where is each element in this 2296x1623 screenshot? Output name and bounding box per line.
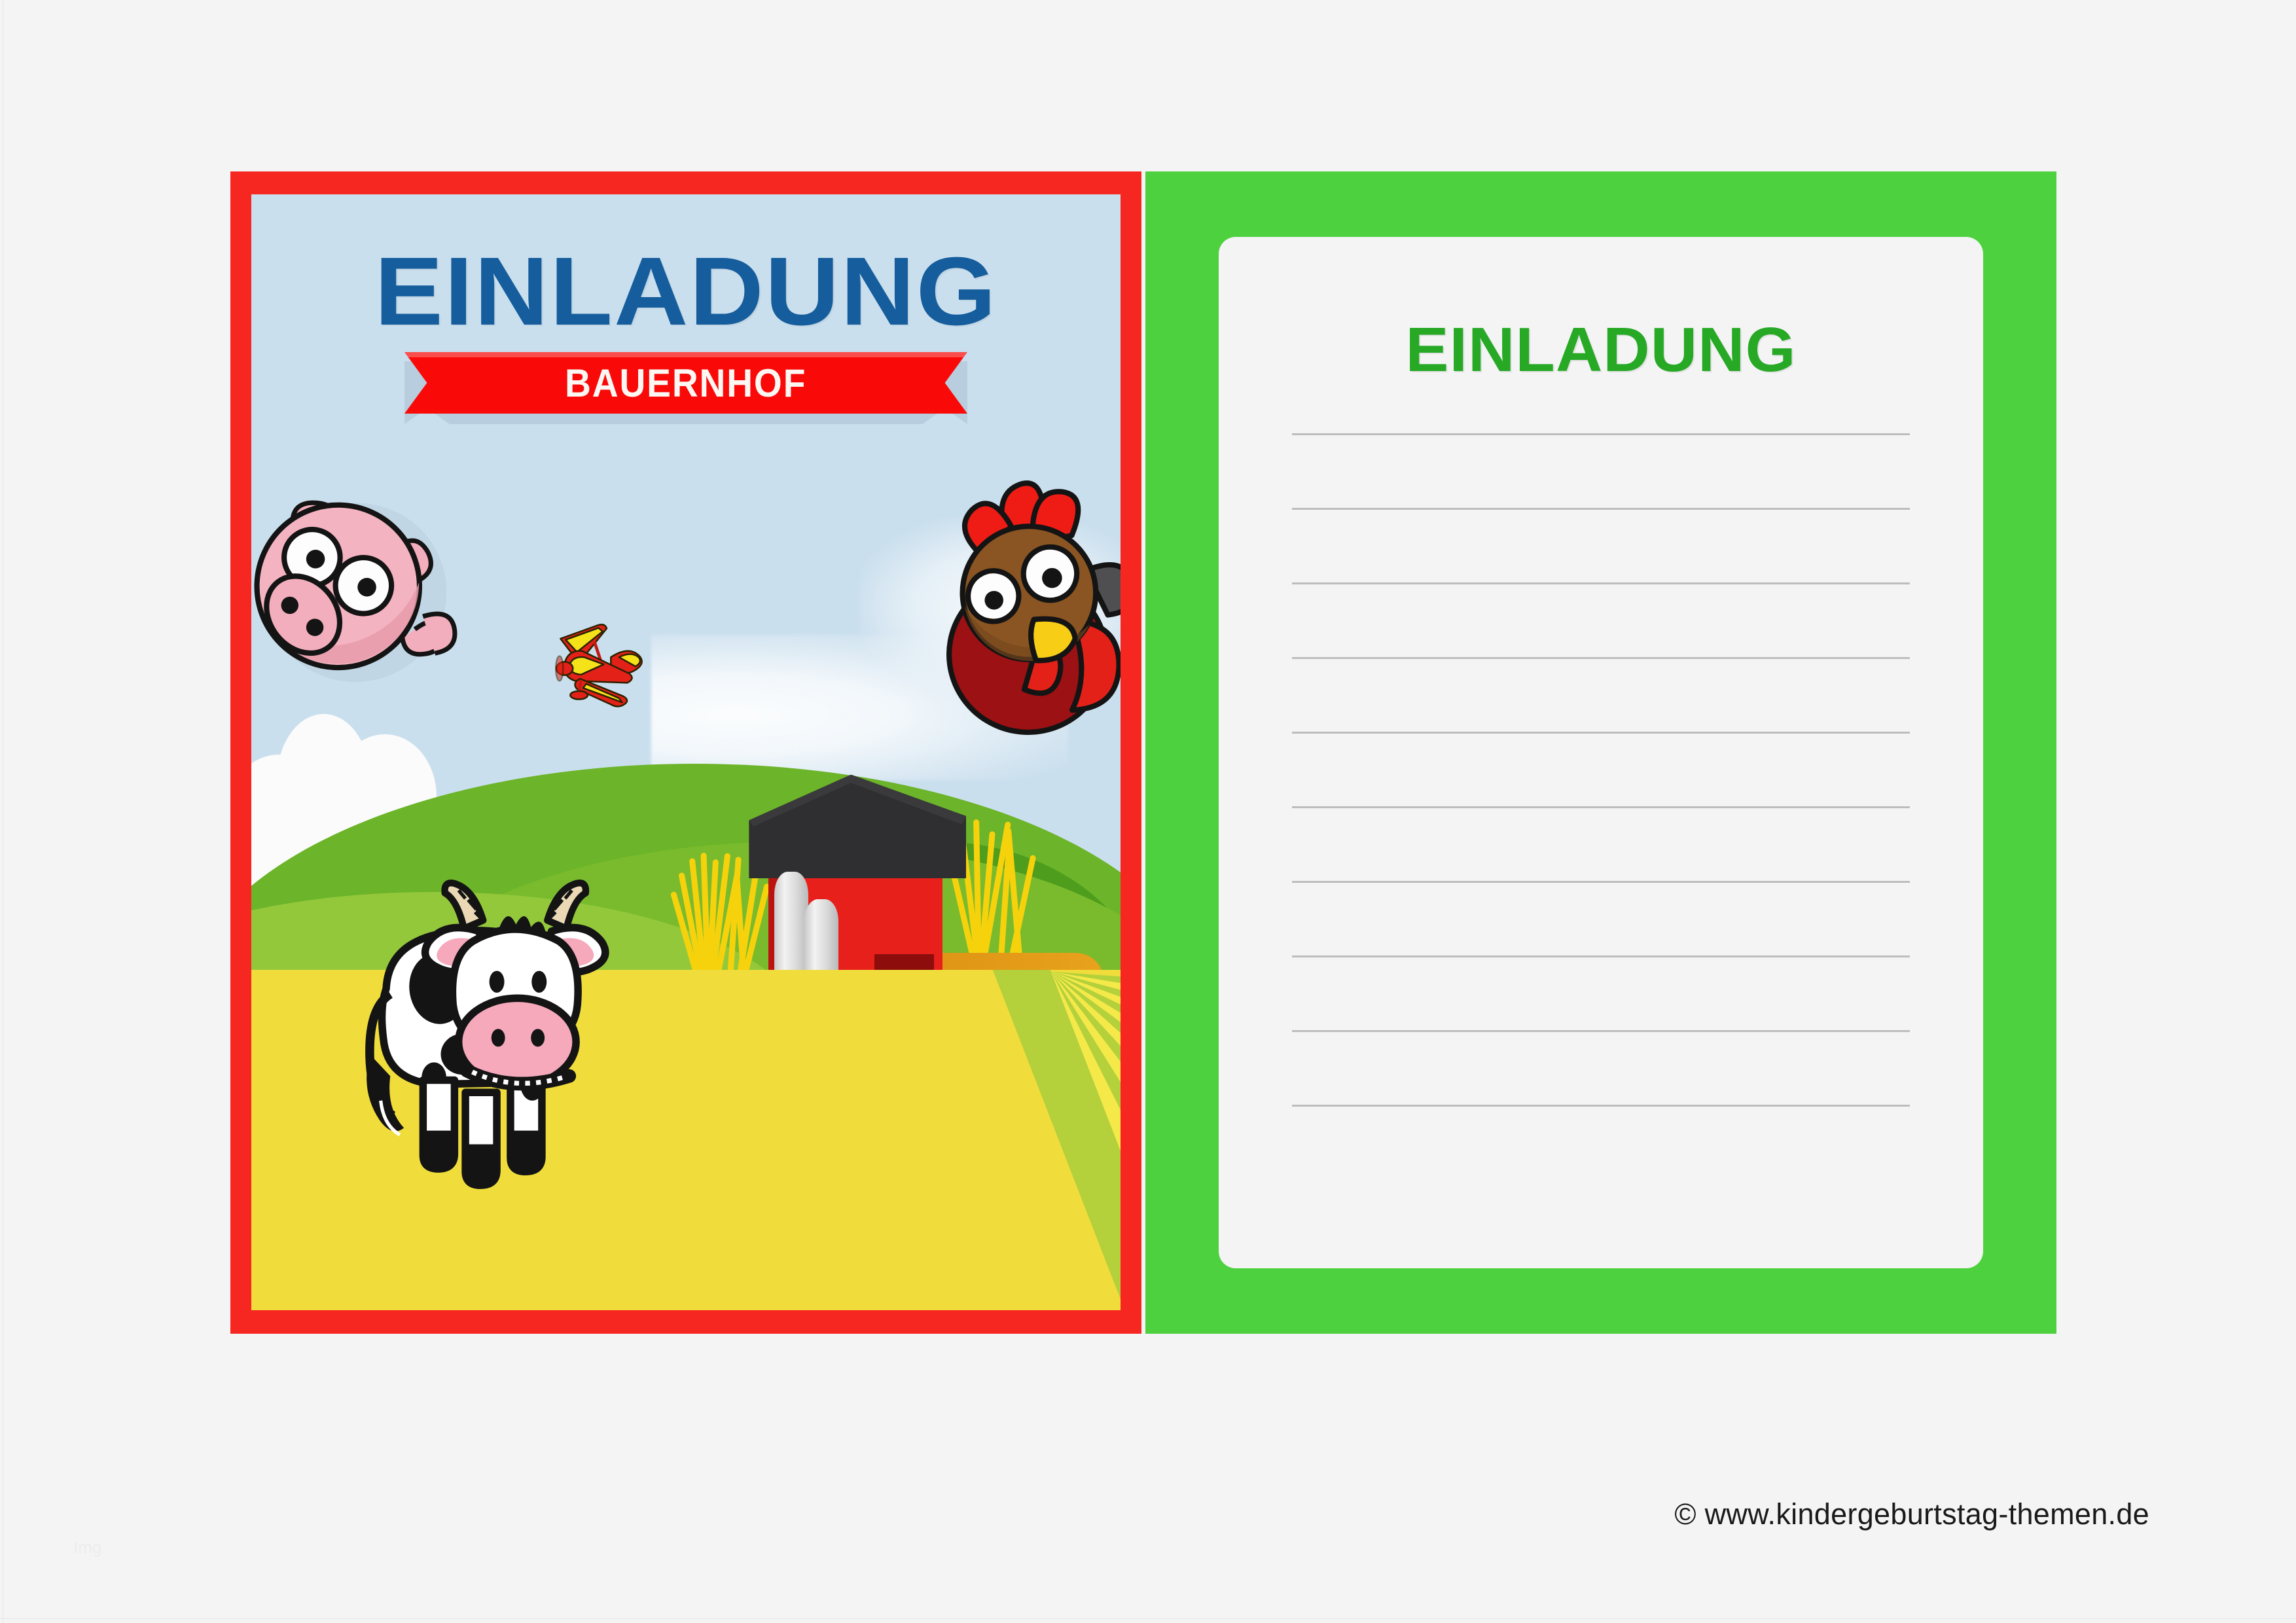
- note-line[interactable]: [1292, 508, 1910, 510]
- note-line[interactable]: [1292, 582, 1910, 584]
- note-lines[interactable]: [1292, 433, 1910, 1107]
- barn-roof: [749, 775, 966, 879]
- writable-note-panel[interactable]: EINLADUNG: [1219, 237, 1983, 1268]
- page-edge-left: [3, 0, 3, 1623]
- invitation-inside-card: EINLADUNG: [1145, 171, 2056, 1334]
- rooster-icon: [938, 440, 1121, 775]
- cow-icon: [338, 802, 625, 1249]
- theme-ribbon: BAUERNHOF: [251, 352, 1121, 423]
- ribbon-label: BAUERNHOF: [565, 361, 806, 406]
- inside-title: EINLADUNG: [1207, 314, 1994, 386]
- note-line[interactable]: [1292, 657, 1910, 659]
- biplane-icon: [547, 590, 660, 736]
- note-line[interactable]: [1292, 806, 1910, 808]
- invitation-front-card: EINLADUNG BAUERNHOF: [230, 171, 1141, 1334]
- front-headline-block: EINLADUNG BAUERNHOF: [251, 243, 1121, 423]
- copyright-credit: © www.kindergeburtstag-themen.de: [1674, 1497, 2149, 1531]
- ribbon-banner: BAUERNHOF: [404, 352, 967, 414]
- wheat-patch-left: [681, 853, 760, 987]
- note-line[interactable]: [1292, 881, 1910, 883]
- front-headline: EINLADUNG: [251, 243, 1121, 340]
- faint-watermark: Img: [73, 1537, 101, 1558]
- note-line[interactable]: [1292, 433, 1910, 435]
- note-line[interactable]: [1292, 1105, 1910, 1107]
- pig-icon: [251, 457, 439, 736]
- note-line[interactable]: [1292, 732, 1910, 734]
- farm-scene-artwork: EINLADUNG BAUERNHOF: [251, 194, 1121, 1310]
- page-edge-bottom: [0, 1618, 2296, 1619]
- note-line[interactable]: [1292, 1030, 1910, 1032]
- note-line[interactable]: [1292, 955, 1910, 957]
